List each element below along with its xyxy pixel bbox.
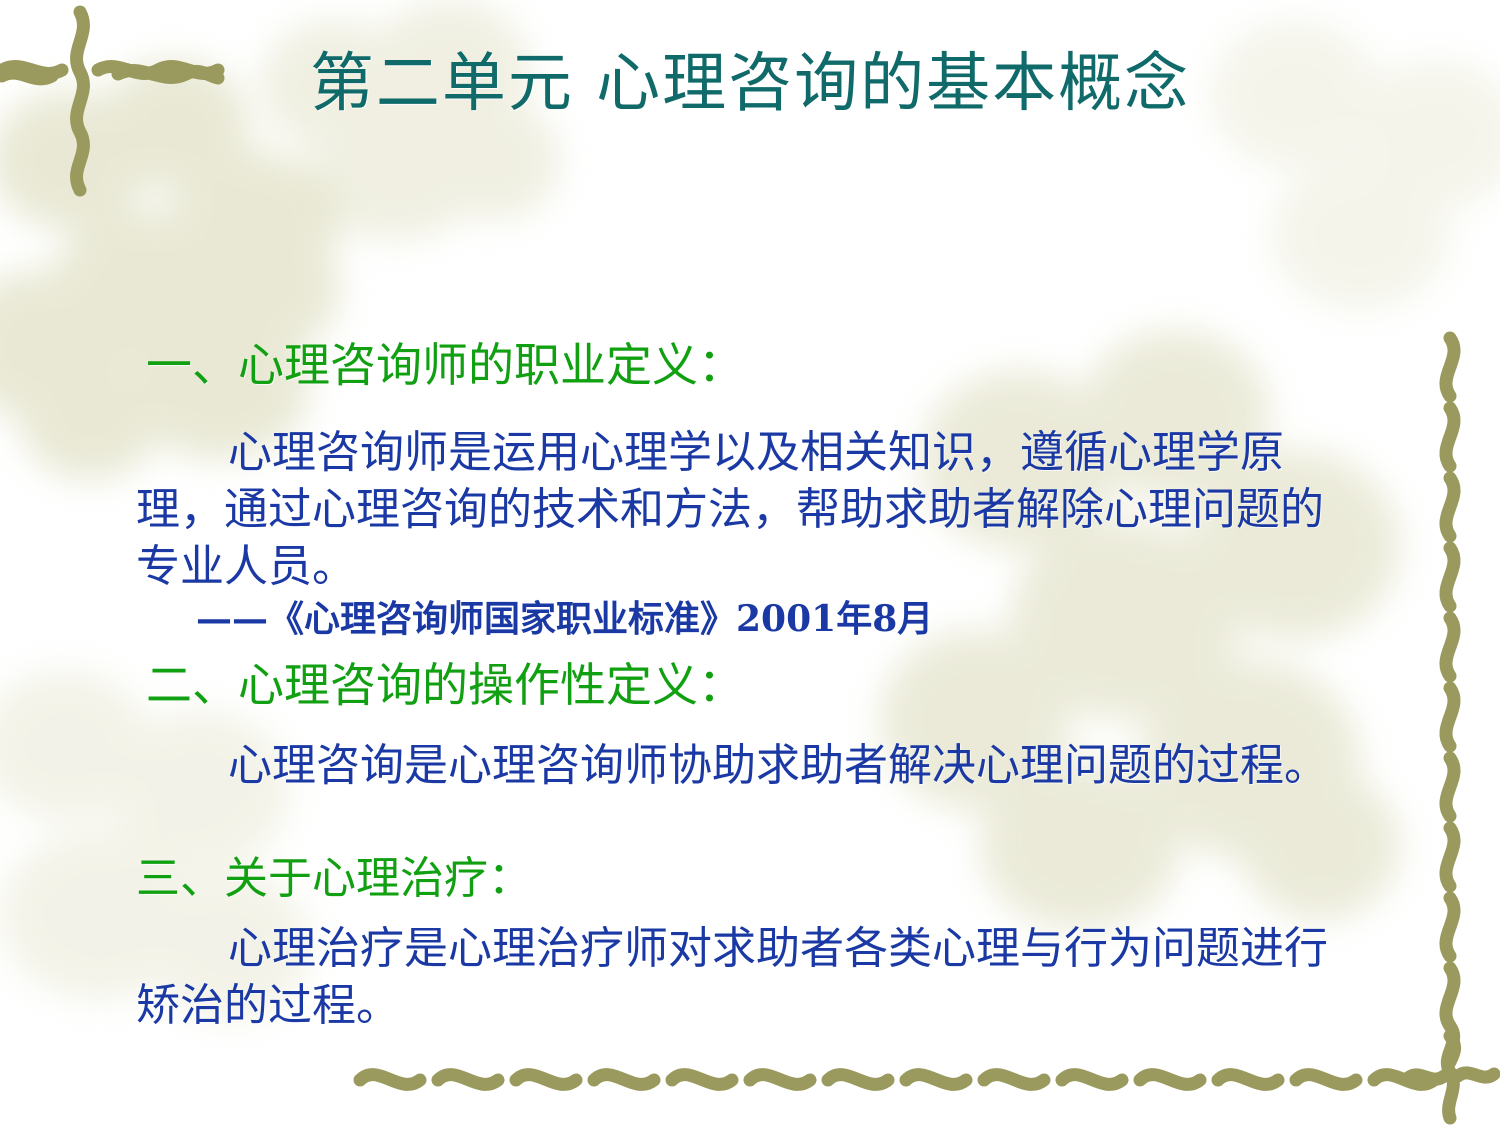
section-heading-3: 三、关于心理治疗： (136, 855, 532, 903)
slide-content: 第二单元 心理咨询的基本概念 一、心理咨询师的职业定义： 心理咨询师是运用心理学… (0, 0, 1500, 1125)
section-heading-1: 一、心理咨询师的职业定义： (146, 340, 744, 391)
section-body-1: 心理咨询师是运用心理学以及相关知识，遵循心理学原理，通过心理咨询的技术和方法，帮… (136, 424, 1346, 595)
section-citation-1: ——《心理咨询师国家职业标准》2001年8月 (196, 598, 933, 641)
presentation-slide: 第二单元 心理咨询的基本概念 一、心理咨询师的职业定义： 心理咨询师是运用心理学… (0, 0, 1500, 1125)
section-body-2: 心理咨询是心理咨询师协助求助者解决心理问题的过程。 (136, 737, 1346, 794)
slide-title: 第二单元 心理咨询的基本概念 (0, 48, 1500, 122)
section-heading-2: 二、心理咨询的操作性定义： (146, 660, 744, 711)
section-body-3: 心理治疗是心理治疗师对求助者各类心理与行为问题进行矫治的过程。 (136, 920, 1356, 1034)
